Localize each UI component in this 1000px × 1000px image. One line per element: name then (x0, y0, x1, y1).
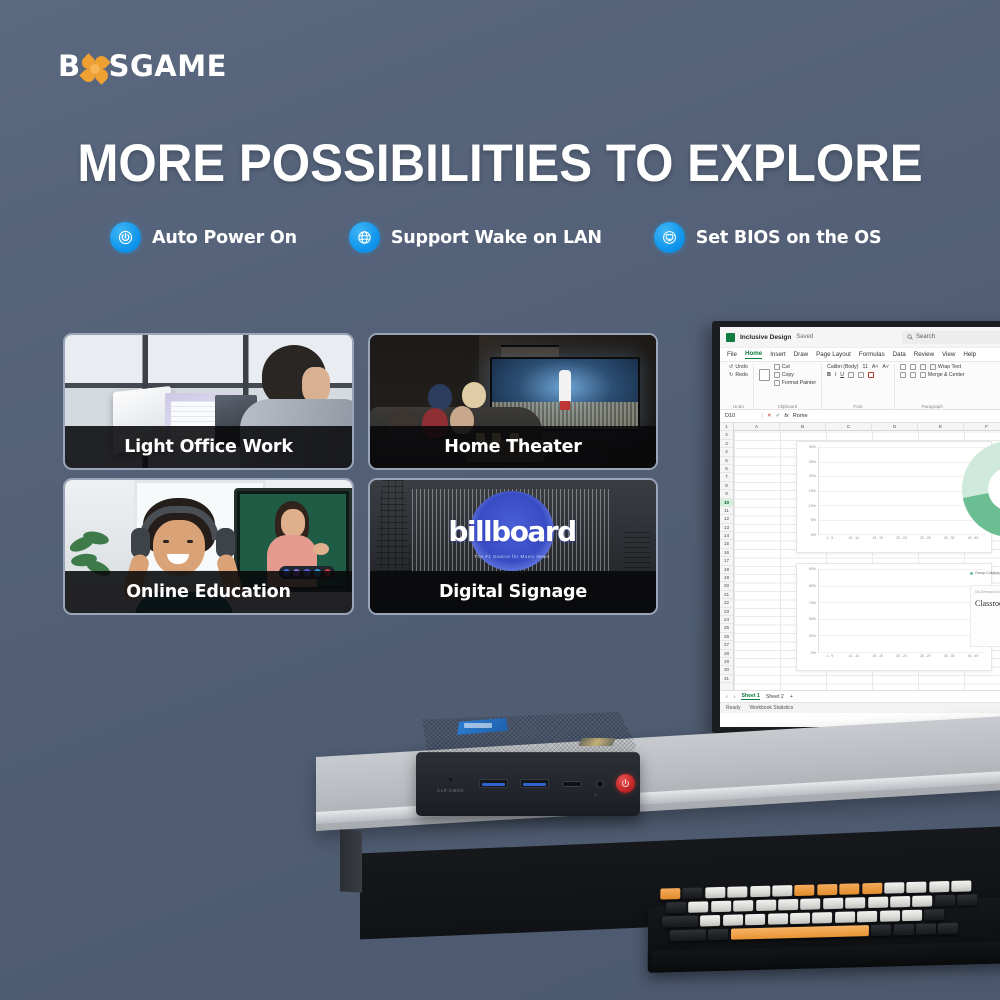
row-header[interactable]: 24 (720, 616, 733, 624)
tab-formulas[interactable]: Formulas (859, 351, 885, 358)
gridline (819, 491, 985, 492)
search-input[interactable]: Search (902, 331, 1000, 344)
y-tick-label: 30% (809, 445, 816, 449)
gridline (819, 534, 985, 535)
y-tick-label: 80% (809, 584, 816, 588)
row-header[interactable]: 26 (720, 633, 733, 641)
row-header[interactable]: 4 (720, 448, 733, 456)
processor-sticker (456, 718, 508, 735)
legend-swatch (970, 572, 973, 575)
scenario-caption-label: Digital Signage (439, 582, 587, 602)
key[interactable] (711, 901, 731, 913)
legend-label: Group Collaboration (975, 571, 1000, 575)
status-bar: Ready Workbook Statistics (720, 702, 1000, 713)
billboard-subtitle: The #1 Source for Music News (474, 554, 550, 559)
key[interactable] (857, 911, 877, 923)
row-header[interactable]: 7 (720, 473, 733, 481)
key[interactable] (745, 914, 765, 926)
ribbon-tabs: File Home Insert Draw Page Layout Formul… (720, 348, 1000, 362)
globe-icon (349, 222, 380, 253)
key[interactable] (823, 898, 843, 910)
gridline (819, 462, 985, 463)
logo-text-right: SGAME (109, 52, 227, 81)
scenario-caption-label: Light Office Work (124, 437, 293, 457)
x-tick-label: 15 - 19 (868, 654, 886, 658)
row-header[interactable]: 18 (720, 566, 733, 574)
key[interactable] (890, 896, 910, 908)
key[interactable] (845, 897, 865, 909)
x-tick-label: 25 - 29 (916, 654, 934, 658)
row-header[interactable]: 9 (720, 490, 733, 498)
feature-label: Set BIOS on the OS (696, 228, 882, 248)
row-header[interactable]: 19 (720, 574, 733, 582)
tab-review[interactable]: Review (914, 351, 934, 358)
usb-c-port[interactable] (562, 781, 582, 787)
x-tick-label: 40 - 49 (964, 654, 982, 658)
tab-data[interactable]: Data (893, 351, 906, 358)
column-headers: A B C D E F (734, 423, 1000, 431)
scenario-card-home-theater[interactable]: Home Theater (368, 333, 658, 470)
tab-file[interactable]: File (727, 351, 737, 358)
x-tick-label: 10 - 14 (845, 654, 863, 658)
gridline (819, 602, 985, 603)
gridline (819, 476, 985, 477)
pinwheel-icon (82, 56, 108, 82)
group-label-paragraph: Paragraph (900, 404, 965, 409)
key[interactable] (893, 924, 913, 936)
y-axis-labels: 0%30%50%70%80%90% (801, 569, 817, 653)
note-card: On-Demand Groups Classroom (970, 585, 1000, 647)
formula-bar: D10 ✕ ✓ fx Rome (720, 410, 1000, 423)
name-box[interactable]: D10 (725, 413, 763, 419)
x-tick-label: 20 - 24 (892, 654, 910, 658)
power-button[interactable] (616, 774, 635, 793)
key[interactable] (884, 882, 904, 894)
key[interactable] (951, 880, 971, 892)
key[interactable] (723, 914, 743, 926)
note-card-body: Classroom (975, 599, 1000, 608)
chart-stacked-bar-bottom[interactable]: 0%30%50%70%80%90% 1 - 910 - 1415 - 1920 … (796, 563, 992, 671)
row-header[interactable]: 30 (720, 666, 733, 674)
y-tick-label: 0% (811, 651, 816, 655)
x-tick-label: 30 - 35 (940, 654, 958, 658)
excel-window: Inclusive Design Saved Search File Home … (720, 327, 1000, 727)
mechanical-keyboard[interactable] (648, 875, 1000, 977)
mini-pc-front-panel: CLR CMOS ⌂ (416, 752, 640, 816)
key[interactable] (812, 912, 832, 924)
clear-cmos-pinhole[interactable] (449, 778, 452, 781)
gridline (819, 586, 985, 587)
key[interactable] (912, 895, 932, 907)
excel-icon (726, 333, 735, 342)
row-header[interactable]: 12 (720, 515, 733, 523)
excel-titlebar: Inclusive Design Saved Search (720, 327, 1000, 348)
key[interactable] (929, 881, 949, 893)
monitor-icon (654, 222, 685, 253)
row-header[interactable]: 28 (720, 650, 733, 658)
row-header[interactable]: 6 (720, 465, 733, 473)
y-tick-label: 10% (809, 504, 816, 508)
x-tick-label: 1 - 9 (821, 536, 839, 540)
column-header-b[interactable]: B (780, 423, 826, 430)
usb-a-port[interactable] (520, 779, 549, 788)
y-tick-label: 25% (809, 460, 816, 464)
add-sheet-button[interactable]: + (790, 694, 793, 700)
brand-logo: B SGAME (58, 52, 227, 81)
indent-decrease-icon[interactable] (900, 372, 906, 378)
y-tick-label: 15% (809, 489, 816, 493)
tab-view[interactable]: View (942, 351, 955, 358)
x-axis-labels: 1 - 910 - 1415 - 1920 - 2425 - 2930 - 35… (818, 536, 985, 548)
ribbon-group-paragraph: Wrap Text Merge & Center Paragraph (895, 364, 970, 409)
paste-icon[interactable] (759, 369, 770, 381)
key[interactable] (907, 882, 927, 894)
status-ready: Ready (726, 705, 740, 711)
gridline (819, 447, 985, 448)
row-header[interactable]: 29 (720, 658, 733, 666)
row-header[interactable]: 8 (720, 482, 733, 490)
ribbon: ↺ Undo ↻ Redo Undo Cut Copy Format Paint… (720, 362, 1000, 410)
sheet-tab-1[interactable]: Sheet 1 (741, 693, 759, 700)
x-tick-label: 15 - 19 (868, 536, 886, 540)
key[interactable] (689, 901, 709, 913)
font-color-icon[interactable] (868, 372, 874, 378)
key[interactable] (733, 900, 753, 912)
monitor: Inclusive Design Saved Search File Home … (712, 321, 1000, 733)
ribbon-group-font: Calibri (Body) 11 A˄ A˅ B I U Font (822, 364, 895, 409)
ribbon-group-undo: ↺ Undo ↻ Redo Undo (724, 364, 754, 409)
scenario-caption: Online Education (65, 571, 352, 613)
workbook-statistics-button[interactable]: Workbook Statistics (749, 705, 793, 711)
key[interactable] (768, 913, 788, 925)
feature-set-bios: Set BIOS on the OS (654, 222, 882, 253)
align-left-icon[interactable] (900, 364, 906, 370)
saved-status: Saved (796, 334, 813, 340)
row-header[interactable]: 21 (720, 591, 733, 599)
billboard-word: billboard (448, 515, 575, 548)
monitor-shelf-leg (340, 829, 362, 892)
page-title: MORE POSSIBILITIES TO EXPLORE (35, 133, 965, 194)
row-header[interactable]: 20 (720, 582, 733, 590)
spreadsheet-grid[interactable]: A B C D E F 1234567891011121314151617181… (720, 423, 1000, 690)
key[interactable] (924, 909, 944, 921)
tab-draw[interactable]: Draw (794, 351, 808, 358)
feature-auto-power-on: Auto Power On (110, 222, 297, 253)
scenario-caption-label: Home Theater (444, 437, 581, 457)
merge-center-button[interactable]: Merge & Center (920, 372, 965, 378)
format-painter-button[interactable]: Format Painter (774, 380, 816, 386)
tab-help[interactable]: Help (963, 351, 976, 358)
undo-button[interactable]: ↺ Undo (729, 364, 748, 370)
plot-area (818, 447, 985, 535)
row-header[interactable]: 15 (720, 540, 733, 548)
row-header[interactable]: 3 (720, 440, 733, 448)
scenario-caption: Digital Signage (370, 571, 656, 613)
borders-icon[interactable] (848, 372, 854, 378)
key[interactable] (683, 887, 703, 899)
row-header[interactable]: 17 (720, 557, 733, 565)
scenario-caption-label: Online Education (126, 582, 291, 602)
feature-label: Auto Power On (152, 228, 297, 248)
increase-font-icon[interactable]: A˄ (872, 364, 879, 370)
key[interactable] (756, 900, 776, 912)
font-name-select[interactable]: Calibri (Body) (827, 364, 858, 370)
row-headers[interactable]: 1234567891011121314151617181920212223242… (720, 423, 734, 690)
y-tick-label: 30% (809, 634, 816, 638)
key[interactable] (902, 910, 922, 922)
row-header[interactable]: 10 (720, 499, 733, 507)
column-header-f[interactable]: F (964, 423, 1000, 430)
billboard-screen: billboard The #1 Source for Music News (412, 489, 612, 573)
key[interactable] (772, 885, 792, 897)
usb-a-port[interactable] (479, 779, 508, 788)
row-header[interactable]: 11 (720, 507, 733, 515)
key[interactable] (795, 885, 815, 897)
plot-area (818, 569, 985, 653)
row-header[interactable]: 27 (720, 641, 733, 649)
power-icon (110, 222, 141, 253)
scenario-caption: Light Office Work (65, 426, 352, 468)
row-header[interactable]: 5 (720, 457, 733, 465)
product-marketing-banner: B SGAME MORE POSSIBILITIES TO EXPLORE Au… (0, 0, 1000, 1000)
sheet-tabs: ‹ › Sheet 1 Sheet 2 + (720, 690, 1000, 702)
decrease-font-icon[interactable]: A˅ (882, 364, 889, 370)
cut-button[interactable]: Cut (774, 364, 816, 370)
redo-button[interactable]: ↻ Redo (729, 372, 748, 378)
cell-area[interactable]: 0%5%10%15%20%25%30% 1 - 910 - 1415 - 192… (734, 423, 1000, 690)
scenario-card-online-education[interactable]: Online Education (63, 478, 354, 615)
column-header-e[interactable]: E (918, 423, 964, 430)
gridline (819, 505, 985, 506)
sheet-nav-prev[interactable]: ‹ (726, 694, 728, 700)
function-icon[interactable]: fx (784, 413, 788, 419)
key[interactable] (871, 925, 891, 937)
search-icon (907, 334, 913, 340)
x-tick-label: 1 - 9 (821, 654, 839, 658)
key[interactable] (862, 883, 882, 895)
confirm-icon[interactable]: ✓ (776, 413, 781, 419)
search-placeholder: Search (916, 334, 935, 340)
italic-button[interactable]: I (835, 372, 836, 378)
feature-list: Auto Power On Support Wake on LAN Set (110, 222, 900, 253)
row-header[interactable]: 31 (720, 675, 733, 683)
fill-color-icon[interactable] (858, 372, 864, 378)
headphone-jack[interactable] (596, 780, 604, 788)
headphone-icon: ⌂ (594, 792, 597, 798)
group-label-font: Font (827, 404, 889, 409)
chart-legend: Group Collaboration (970, 571, 1000, 577)
gridline (819, 652, 985, 653)
y-tick-label: 5% (811, 518, 816, 522)
y-tick-label: 0% (811, 533, 816, 537)
key[interactable] (790, 913, 810, 925)
key[interactable] (660, 888, 680, 900)
x-tick-label: 10 - 14 (845, 536, 863, 540)
row-header[interactable]: 13 (720, 524, 733, 532)
key[interactable] (705, 887, 725, 899)
key[interactable] (800, 898, 820, 910)
key[interactable] (935, 895, 955, 907)
key[interactable] (727, 886, 747, 898)
key[interactable] (817, 884, 837, 896)
tab-page-layout[interactable]: Page Layout (816, 351, 851, 358)
indent-increase-icon[interactable] (910, 372, 916, 378)
key[interactable] (670, 929, 706, 941)
tab-insert[interactable]: Insert (770, 351, 785, 358)
key[interactable] (835, 911, 855, 923)
gridline (819, 569, 985, 570)
key[interactable] (666, 902, 686, 914)
y-tick-label: 20% (809, 474, 816, 478)
x-tick-label: 30 - 35 (940, 536, 958, 540)
wrap-text-button[interactable]: Wrap Text (930, 364, 961, 370)
group-label-clipboard: Clipboard (759, 404, 816, 409)
row-header[interactable]: 1 (720, 423, 733, 431)
bold-button[interactable]: B (827, 372, 831, 378)
clear-cmos-label: CLR CMOS (437, 788, 464, 793)
row-header[interactable]: 14 (720, 532, 733, 540)
key[interactable] (868, 897, 888, 909)
mini-pc-side-badge (578, 738, 616, 746)
gridline (819, 635, 985, 636)
formula-input[interactable]: Rome (793, 413, 808, 419)
scenario-card-light-office-work[interactable]: Light Office Work (63, 333, 354, 470)
y-tick-label: 50% (809, 617, 816, 621)
gridline (819, 520, 985, 521)
group-label-undo: Undo (729, 404, 748, 409)
x-tick-label: 20 - 24 (892, 536, 910, 540)
scenario-caption: Home Theater (370, 426, 656, 468)
key[interactable] (880, 910, 900, 922)
workbook-name: Inclusive Design (740, 334, 791, 341)
ribbon-group-clipboard: Cut Copy Format Painter Clipboard (754, 364, 822, 409)
align-center-icon[interactable] (910, 364, 916, 370)
y-axis-labels: 0%5%10%15%20%25%30% (801, 447, 817, 535)
x-axis-labels: 1 - 910 - 1415 - 1920 - 2425 - 2930 - 35… (818, 654, 985, 666)
row-header[interactable]: 2 (720, 431, 733, 439)
key[interactable] (778, 899, 798, 911)
mini-pc: CLR CMOS ⌂ (416, 712, 640, 816)
cancel-icon[interactable]: ✕ (767, 413, 772, 419)
column-header-a[interactable]: A (734, 423, 780, 430)
key[interactable] (938, 923, 958, 935)
feature-wake-on-lan: Support Wake on LAN (349, 222, 602, 253)
x-tick-label: 40 - 49 (964, 536, 982, 540)
scenario-card-digital-signage[interactable]: billboard The #1 Source for Music News D… (368, 478, 658, 615)
row-header[interactable]: 25 (720, 624, 733, 632)
key[interactable] (839, 883, 859, 895)
y-tick-label: 70% (809, 601, 816, 605)
y-tick-label: 90% (809, 567, 816, 571)
logo-text-left: B (58, 52, 81, 81)
font-size-select[interactable]: 11 (863, 364, 868, 370)
key[interactable] (957, 894, 977, 906)
sheet-tab-2[interactable]: Sheet 2 (766, 694, 784, 700)
key[interactable] (708, 929, 728, 941)
gridline (819, 619, 985, 620)
tab-home[interactable]: Home (745, 350, 762, 359)
feature-label: Support Wake on LAN (391, 228, 602, 248)
sheet-nav-next[interactable]: › (734, 694, 736, 700)
column-header-d[interactable]: D (872, 423, 918, 430)
row-header[interactable]: 22 (720, 599, 733, 607)
note-card-title: On-Demand Groups (975, 590, 1000, 594)
align-right-icon[interactable] (920, 364, 926, 370)
key[interactable] (916, 923, 936, 935)
key[interactable] (662, 916, 698, 928)
row-header[interactable]: 16 (720, 549, 733, 557)
key[interactable] (750, 886, 770, 898)
copy-button[interactable]: Copy (774, 372, 816, 378)
x-tick-label: 25 - 29 (916, 536, 934, 540)
column-header-c[interactable]: C (826, 423, 872, 430)
key[interactable] (700, 915, 720, 927)
row-header[interactable]: 23 (720, 608, 733, 616)
underline-button[interactable]: U (840, 372, 844, 378)
